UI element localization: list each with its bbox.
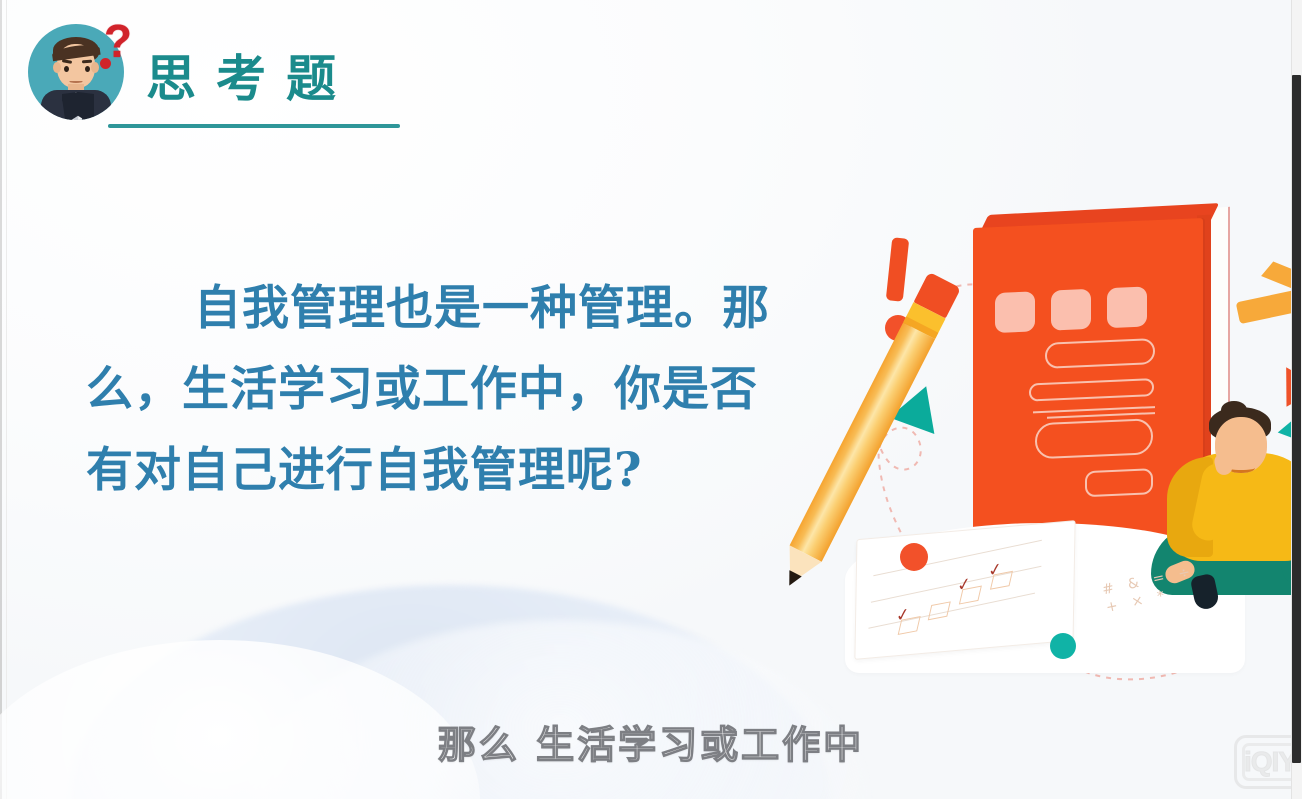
question-line: 么，生活学习或工作中，你是否	[86, 349, 786, 430]
avatar-mouth	[70, 80, 83, 83]
vertical-scrollbar-thumb[interactable]	[1292, 75, 1301, 763]
paper-line	[868, 593, 1035, 629]
video-subtitle: 那么 生活学习或工作中	[0, 714, 1302, 769]
book-cover-pill	[1045, 338, 1155, 369]
thinking-person-avatar-icon: ?	[26, 18, 130, 122]
avatar-eye-left	[64, 66, 69, 72]
title-underline	[108, 124, 400, 128]
book-cover-chip	[1051, 289, 1091, 331]
page-title: 思考题	[146, 54, 356, 104]
avatar-hand	[37, 112, 48, 120]
watermark-text: iQIY	[1244, 745, 1296, 779]
book-cover-pill	[1035, 418, 1153, 459]
question-text-block: 自我管理也是一种管理。那 么，生活学习或工作中，你是否 有对自己进行自我管理呢?	[86, 268, 786, 511]
question-mark-icon: ?	[104, 18, 132, 64]
book-cover-rule	[1047, 412, 1155, 419]
slide-canvas: ? 思考题 自我管理也是一种管理。那 么，生活学习或工作中，你是否 有对自己进行…	[0, 0, 1302, 799]
avatar-ear-right	[91, 62, 99, 73]
checklist-paper-icon: ✓ ✓ ✓	[854, 520, 1075, 660]
avatar-ear-left	[53, 62, 61, 73]
question-line: 有对自己进行自我管理呢?	[86, 430, 786, 511]
left-edge-line-secondary	[6, 0, 7, 799]
question-line: 自我管理也是一种管理。那	[86, 268, 786, 349]
book-cover-chip	[1107, 286, 1147, 328]
book-cover-pill	[1085, 468, 1153, 497]
checkmark-icon: ✓	[895, 606, 911, 626]
teal-circle-shape	[1050, 633, 1076, 659]
left-edge-line	[0, 0, 2, 799]
checkmark-icon: ✓	[956, 576, 972, 596]
book-cover-chip	[995, 291, 1035, 333]
slide-header: ? 思考题	[26, 14, 446, 126]
avatar-lapel-right	[78, 92, 94, 120]
question-mark-dot-icon	[100, 58, 111, 69]
orange-circle-shape	[900, 543, 928, 571]
checkbox-shape	[928, 601, 951, 620]
avatar-eye-right	[85, 66, 90, 72]
vertical-scrollbar-track[interactable]	[1291, 0, 1302, 799]
study-illustration: # & = ÷ + × * ✓ ✓ ✓	[845, 175, 1302, 695]
book-cover-pill	[1029, 378, 1154, 401]
checkmark-icon: ✓	[987, 561, 1003, 581]
